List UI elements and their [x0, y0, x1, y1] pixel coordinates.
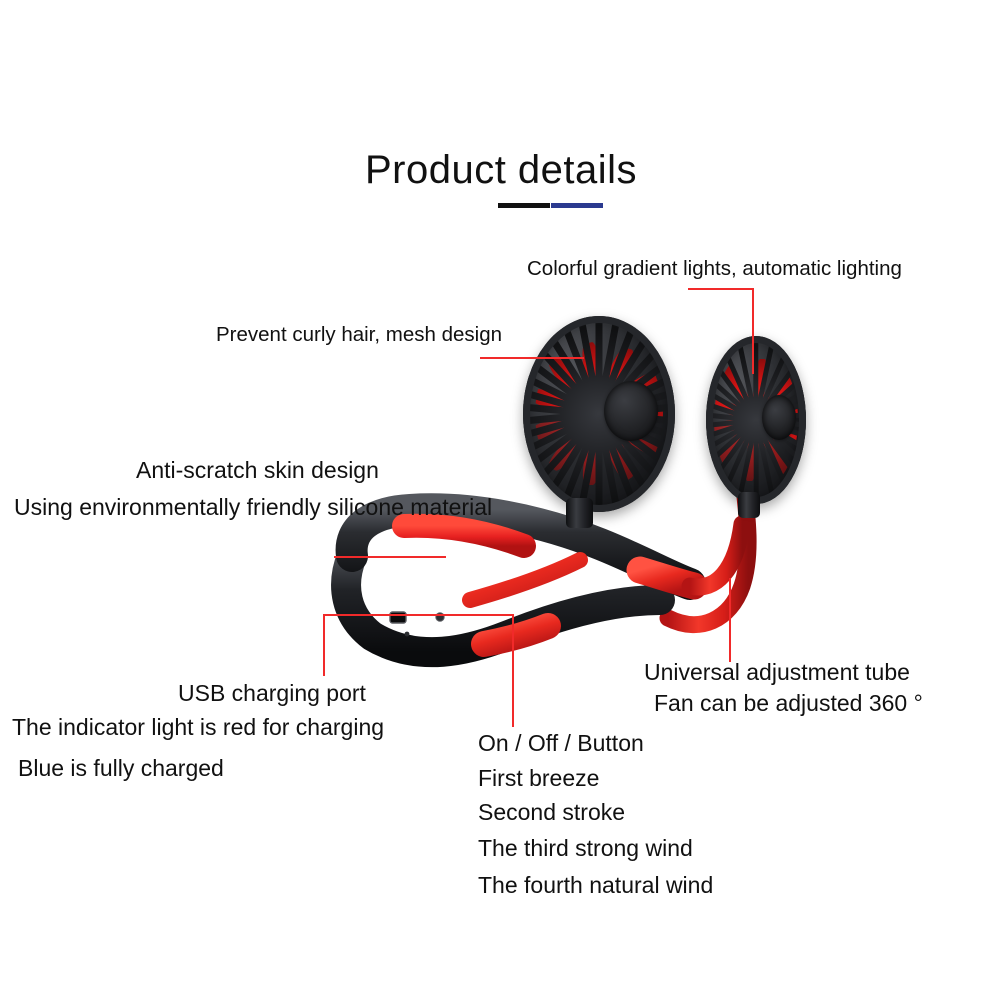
- callout-anti-scratch: Anti-scratch skin design: [136, 453, 379, 488]
- callout-lights: Colorful gradient lights, automatic ligh…: [527, 252, 902, 285]
- title-underline-blue: [551, 203, 603, 208]
- fan-collar-left: [566, 498, 593, 528]
- leader-mesh-horizontal: [480, 357, 584, 359]
- title-underline-black: [498, 203, 550, 208]
- callout-silicone: Using environmentally friendly silicone …: [14, 490, 492, 525]
- fan-rim-right: [706, 336, 806, 504]
- product-details-page: Product details: [0, 0, 1002, 1002]
- silicone-pad: [404, 526, 524, 546]
- mic-hole: [405, 632, 410, 637]
- fan-collar-right: [738, 492, 760, 518]
- leader-lights-horizontal: [688, 288, 754, 290]
- callout-speed-2: Second stroke: [478, 795, 625, 830]
- callout-tube-title: Universal adjustment tube: [644, 655, 910, 690]
- gooseneck-tube-right-upper: [690, 524, 742, 587]
- leader-button-vertical: [512, 614, 514, 727]
- page-title: Product details: [0, 148, 1002, 193]
- band-red-tip-front: [484, 626, 548, 644]
- leader-lights-vertical: [752, 288, 754, 374]
- gooseneck-tube-left-lower: [470, 560, 580, 600]
- fan-head-left: [523, 316, 675, 512]
- callout-tube-detail: Fan can be adjusted 360 °: [654, 686, 923, 721]
- leader-tube-vertical: [729, 578, 731, 662]
- callout-speed-3: The third strong wind: [478, 831, 693, 866]
- fan-head-right: [706, 336, 806, 504]
- callout-mesh: Prevent curly hair, mesh design: [216, 318, 502, 351]
- leader-silicone-horizontal: [334, 556, 446, 558]
- callout-button-title: On / Off / Button: [478, 726, 644, 761]
- callout-speed-1: First breeze: [478, 761, 599, 796]
- callout-indicator-blue: Blue is fully charged: [18, 751, 224, 786]
- callout-indicator-red: The indicator light is red for charging: [12, 710, 384, 745]
- band-red-tip-back: [640, 570, 694, 586]
- neckband-front-arm: [346, 556, 660, 652]
- callout-speed-4: The fourth natural wind: [478, 868, 713, 903]
- fan-rim-left: [523, 316, 675, 512]
- callout-usb-port: USB charging port: [178, 676, 366, 711]
- leader-bracket-horizontal: [323, 614, 514, 616]
- leader-usb-vertical: [323, 614, 325, 676]
